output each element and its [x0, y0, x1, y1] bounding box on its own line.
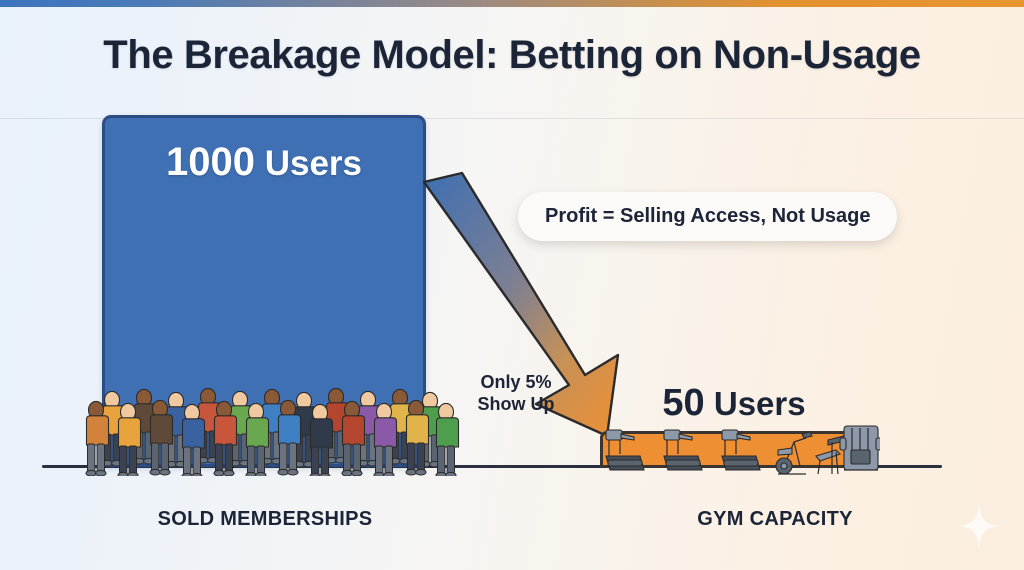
- sparkle-icon: [958, 503, 1000, 549]
- gym-capacity-number: 50: [662, 382, 704, 424]
- treadmill-icon: [606, 430, 760, 470]
- gym-capacity-unit: Users: [714, 385, 806, 422]
- showup-note: Only 5% Show Up: [452, 372, 580, 416]
- sold-memberships-caption: SOLD MEMBERSHIPS: [80, 508, 450, 531]
- gym-capacity-caption: GYM CAPACITY: [620, 508, 930, 531]
- showup-note-line1: Only 5%: [452, 372, 580, 394]
- exercise-bike-icon: [776, 432, 812, 474]
- cable-machine-icon: [840, 426, 880, 470]
- showup-note-line2: Show Up: [452, 394, 580, 416]
- conversion-arrow: [0, 0, 1024, 570]
- profit-callout-pill: Profit = Selling Access, Not Usage: [518, 192, 897, 241]
- slide-canvas: The Breakage Model: Betting on Non-Usage…: [0, 0, 1024, 570]
- gym-equipment-illustration: .mt{fill:#8d99a8;stroke:#2b2b2b;stroke-w…: [600, 420, 880, 475]
- gym-capacity-value-label: 50 Users: [600, 382, 868, 425]
